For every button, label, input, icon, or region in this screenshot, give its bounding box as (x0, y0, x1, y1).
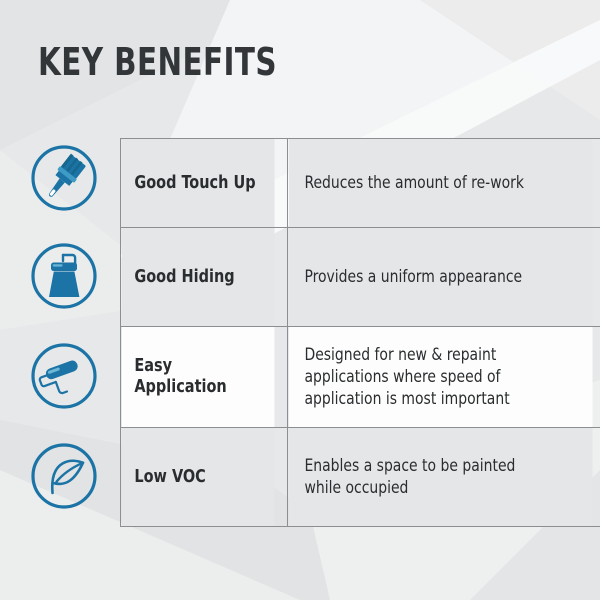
benefit-name-line1: Easy (134, 356, 274, 377)
paint-roller-angled-icon (30, 342, 98, 410)
benefit-description: Provides a uniform appearance (304, 266, 582, 288)
page-title: KEY BENEFITS (38, 41, 277, 83)
benefit-name: Good Hiding (134, 267, 274, 288)
benefit-name-cell: Low VOC (121, 428, 275, 527)
benefit-description-line1: Designed for new & repaint (304, 344, 582, 366)
benefit-name-cell: Easy Application (121, 327, 275, 428)
benefit-name-cell: Good Hiding (121, 228, 275, 327)
benefit-name: Low VOC (134, 467, 274, 488)
benefit-description-line1: Enables a space to be painted (304, 455, 582, 477)
benefit-description-line2: applications where speed of (304, 366, 582, 388)
table-row: Good Touch Up Reduces the amount of re-w… (121, 139, 600, 228)
benefit-description-cell: Enables a space to be painted while occu… (288, 428, 593, 527)
benefits-table: Good Touch Up Reduces the amount of re-w… (120, 138, 600, 527)
table-row: Easy Application Designed for new & repa… (121, 327, 600, 428)
icon-column (0, 138, 120, 530)
benefit-description-cell: Designed for new & repaint applications … (288, 327, 593, 428)
benefit-name-line2: Application (134, 377, 274, 398)
paint-roller-tray-icon (30, 242, 98, 310)
benefit-description: Reduces the amount of re-work (304, 172, 582, 194)
leaf-icon (30, 442, 98, 510)
benefit-description-line2: while occupied (304, 477, 582, 499)
benefit-name-cell: Good Touch Up (121, 139, 275, 228)
benefit-description-line3: application is most important (304, 388, 582, 410)
benefit-description-cell: Reduces the amount of re-work (288, 139, 593, 228)
benefit-name: Good Touch Up (134, 173, 274, 194)
key-benefits-infographic: KEY BENEFITS (0, 0, 600, 600)
paint-brush-icon (30, 144, 98, 212)
table-row: Good Hiding Provides a uniform appearanc… (121, 228, 600, 327)
benefit-description-cell: Provides a uniform appearance (288, 228, 593, 327)
table-row: Low VOC Enables a space to be painted wh… (121, 428, 600, 527)
